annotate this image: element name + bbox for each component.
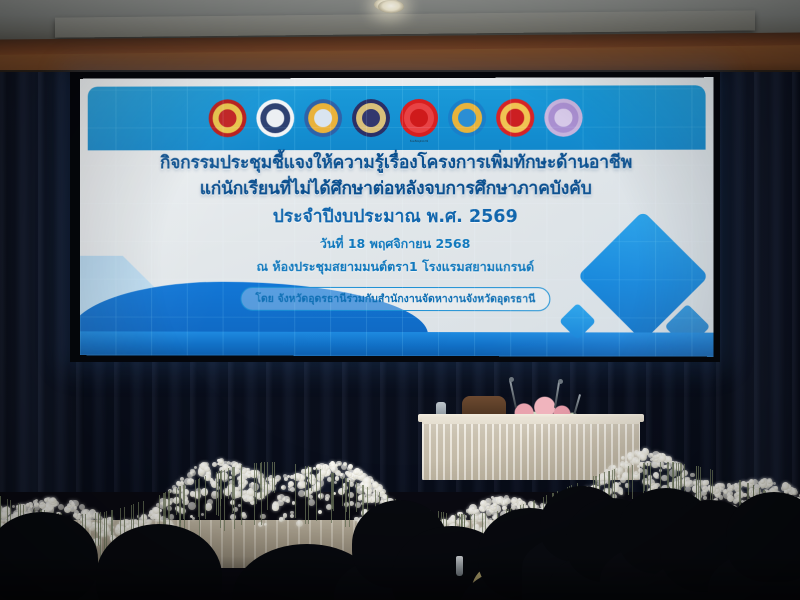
emblem-ministry-white-navy bbox=[256, 99, 294, 137]
flower-blossom bbox=[782, 483, 789, 490]
flower-blossom bbox=[335, 476, 340, 481]
flower-stem bbox=[224, 470, 225, 532]
flower-stem bbox=[698, 466, 699, 499]
organizer-badge: โดย จังหวัดอุดรธานีร่วมกับสำนักงานจัดหาง… bbox=[240, 287, 550, 311]
flower-stem bbox=[163, 493, 164, 527]
flower-blossom bbox=[619, 490, 623, 494]
flower-blossom bbox=[86, 521, 92, 527]
flower-blossom bbox=[222, 476, 228, 482]
flower-blossom bbox=[204, 466, 210, 472]
flower-blossom bbox=[639, 453, 647, 461]
flower-blossom bbox=[39, 500, 44, 505]
flower-stem bbox=[342, 477, 343, 507]
flower-blossom bbox=[318, 510, 322, 514]
flower-stem bbox=[349, 480, 350, 528]
flower-stem bbox=[696, 466, 697, 501]
flower-blossom bbox=[249, 483, 254, 488]
flower-blossom bbox=[743, 493, 747, 497]
slide-title-line-3: ประจำปีงบประมาณ พ.ศ. 2569 bbox=[94, 202, 700, 230]
flower-blossom bbox=[518, 498, 521, 501]
flower-stem bbox=[346, 478, 347, 512]
flower-stem bbox=[100, 512, 101, 561]
slide-venue-line: ณ ห้องประชุมสยามมนต์ตรา1 โรงแรมสยามแกรนด… bbox=[94, 257, 700, 278]
flower-blossom bbox=[74, 506, 78, 510]
curtain-right-panel bbox=[716, 72, 800, 492]
flower-blossom bbox=[264, 523, 267, 526]
slide-text-block: กิจกรรมประชุมชี้แจงให้ความรู้เรื่องโครงก… bbox=[80, 150, 714, 312]
flower-stem bbox=[316, 468, 317, 521]
emblem-caption: จังหวัดอุดรธานี bbox=[410, 140, 428, 144]
flower-blossom bbox=[44, 498, 48, 502]
flower-blossom bbox=[67, 503, 73, 509]
flower-stem bbox=[221, 470, 222, 499]
emblem-purple-outline-seal bbox=[544, 99, 582, 137]
flower-blossom bbox=[212, 462, 217, 467]
flower-blossom bbox=[272, 505, 279, 512]
flower-stem bbox=[632, 465, 633, 499]
emblem-garuda-red-gold bbox=[209, 99, 247, 137]
slide-date-line: วันที่ 18 พฤศจิกายน 2568 bbox=[94, 233, 700, 254]
flower-blossom bbox=[701, 490, 707, 496]
flower-stem bbox=[295, 464, 296, 518]
led-presentation-screen: จังหวัดอุดรธานี กิจกรรมประชุมชี้แจงให้คว… bbox=[80, 77, 714, 357]
flower-stem bbox=[98, 513, 99, 546]
flower-stem bbox=[356, 482, 357, 511]
emblem-red-seal-udonthani: จังหวัดอุดรธานี bbox=[400, 99, 438, 137]
slide-title-line-2: แก่นักเรียนที่ไม่ได้ศึกษาต่อหลังจบการศึก… bbox=[94, 176, 700, 203]
flower-stem bbox=[320, 469, 321, 499]
flower-stem bbox=[261, 462, 262, 525]
flower-stem bbox=[272, 462, 273, 492]
flower-blossom bbox=[100, 533, 103, 536]
microphone-head-icon bbox=[558, 379, 563, 384]
flower-stem bbox=[199, 478, 200, 541]
decorative-bottom-bar bbox=[80, 331, 714, 356]
flower-blossom bbox=[690, 473, 694, 477]
flower-blossom bbox=[767, 479, 772, 484]
flower-stem bbox=[195, 480, 196, 505]
emblem-navy-crest bbox=[352, 99, 390, 137]
flower-stem bbox=[169, 490, 170, 525]
flower-blossom bbox=[327, 466, 330, 469]
flower-blossom bbox=[115, 527, 119, 531]
flower-stem bbox=[305, 466, 306, 525]
flower-blossom bbox=[296, 520, 303, 527]
flower-blossom bbox=[334, 481, 337, 484]
flower-blossom bbox=[211, 481, 218, 488]
flower-stem bbox=[345, 478, 346, 527]
flower-blossom bbox=[325, 494, 330, 499]
flower-stem bbox=[234, 467, 235, 530]
flower-blossom bbox=[335, 464, 338, 467]
flower-stem bbox=[241, 465, 242, 525]
flower-blossom bbox=[729, 485, 733, 489]
curtain-folds bbox=[716, 72, 800, 492]
conference-hall-scene: จังหวัดอุดรธานี กิจกรรมประชุมชี้แจงให้คว… bbox=[0, 0, 800, 600]
flower-blossom bbox=[34, 503, 38, 507]
flower-blossom bbox=[205, 503, 213, 511]
flower-blossom bbox=[655, 476, 659, 480]
flower-blossom bbox=[308, 499, 315, 506]
flower-stem bbox=[673, 463, 674, 491]
flower-stem bbox=[176, 488, 177, 515]
flower-stem bbox=[180, 486, 181, 524]
flower-stem bbox=[267, 462, 268, 510]
flower-blossom bbox=[773, 482, 776, 485]
flower-blossom bbox=[792, 491, 796, 495]
flower-stem bbox=[218, 471, 219, 516]
flower-stem bbox=[264, 462, 265, 499]
slide-title-line-1: กิจกรรมประชุมชี้แจงให้ความรู้เรื่องโครงก… bbox=[94, 150, 700, 177]
flower-blossom bbox=[635, 459, 640, 464]
flower-blossom bbox=[275, 475, 281, 481]
flower-blossom bbox=[191, 479, 194, 482]
emblem-red-school-crest bbox=[496, 99, 534, 137]
emblem-gold-crown-blue bbox=[448, 99, 486, 137]
microphone-head-icon bbox=[509, 377, 514, 382]
flower-stem bbox=[228, 468, 229, 499]
flower-blossom bbox=[290, 514, 294, 518]
flower-stem bbox=[311, 467, 312, 491]
flower-blossom bbox=[194, 466, 197, 469]
foreground-shadow bbox=[0, 556, 800, 600]
flower-stem bbox=[216, 472, 217, 515]
flower-stem bbox=[205, 476, 206, 519]
flower-stem bbox=[232, 467, 233, 513]
flower-blossom bbox=[89, 515, 92, 518]
flower-stem bbox=[333, 473, 334, 511]
flower-stem bbox=[644, 463, 645, 491]
flower-stem bbox=[628, 466, 629, 496]
flower-stem bbox=[183, 485, 184, 519]
flower-stem bbox=[220, 471, 221, 529]
flower-stem bbox=[256, 463, 257, 504]
flower-blossom bbox=[290, 475, 294, 479]
flower-stem bbox=[308, 466, 309, 524]
flower-stem bbox=[684, 464, 685, 494]
flower-blossom bbox=[723, 489, 728, 494]
flower-blossom bbox=[343, 462, 347, 466]
flower-blossom bbox=[201, 513, 204, 516]
flower-blossom bbox=[281, 486, 284, 489]
flower-blossom bbox=[283, 513, 288, 518]
flower-blossom bbox=[659, 455, 666, 462]
flower-stem bbox=[274, 462, 275, 493]
flower-blossom bbox=[493, 503, 497, 507]
slide-emblem-header: จังหวัดอุดรธานี bbox=[88, 85, 706, 150]
presentation-slide: จังหวัดอุดรธานี กิจกรรมประชุมชี้แจงให้คว… bbox=[80, 77, 714, 357]
flower-blossom bbox=[248, 471, 251, 474]
ceiling-downlight-icon bbox=[378, 0, 404, 13]
flower-blossom bbox=[621, 456, 625, 460]
flower-blossom bbox=[192, 517, 195, 520]
flower-blossom bbox=[235, 487, 240, 492]
flower-blossom bbox=[187, 472, 194, 479]
flower-blossom bbox=[286, 499, 290, 503]
emblem-provincial-pagoda bbox=[304, 99, 342, 137]
